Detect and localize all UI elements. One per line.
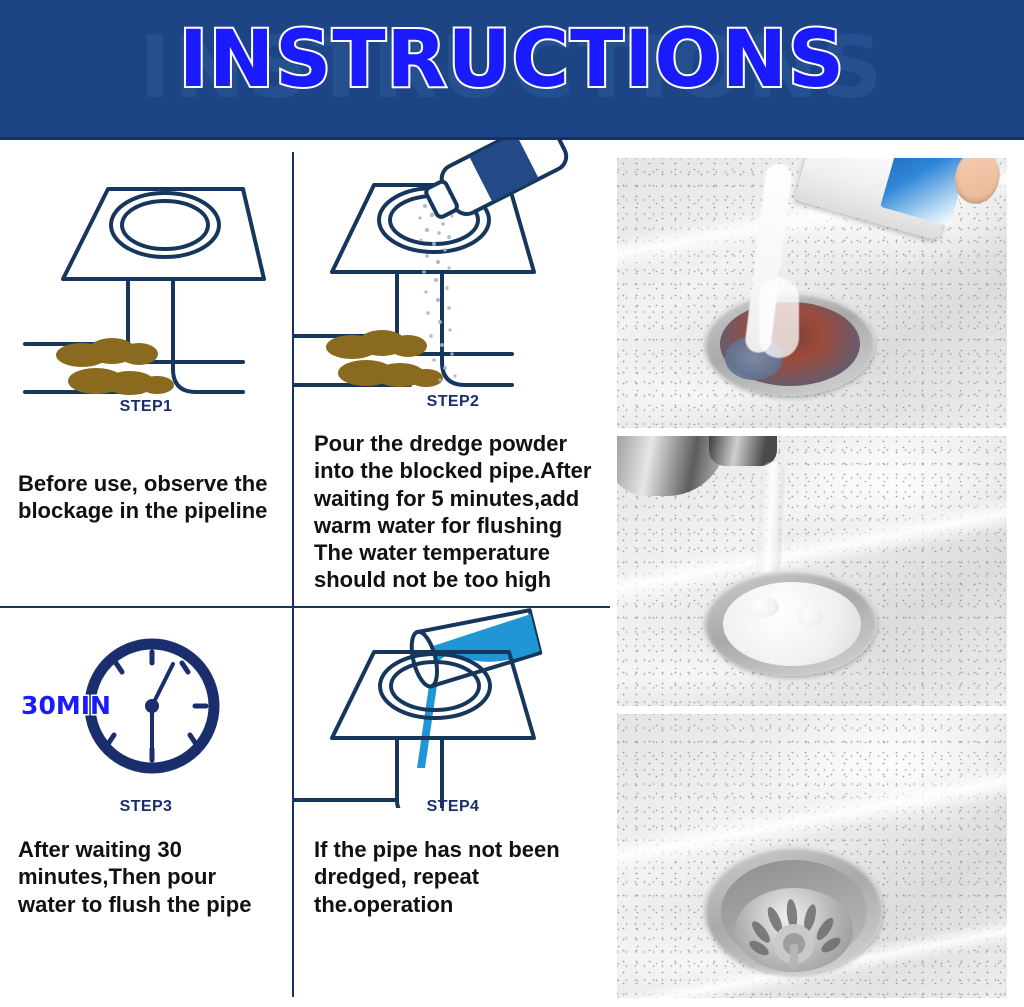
- step-2-caption-line-4: warm water for flushing: [314, 512, 610, 539]
- strainer-slots: [735, 888, 853, 972]
- step-2-caption-line-5: The water temperature: [314, 539, 610, 566]
- photo-flushing-water: [617, 436, 1007, 706]
- step-1-illustration: [0, 140, 292, 395]
- page-title: INSTRUCTIONS: [179, 15, 845, 105]
- step-1-label: STEP1: [0, 398, 292, 416]
- step-3-caption-line-2: minutes,Then pour: [18, 863, 290, 890]
- blockage-sludge: [56, 338, 174, 395]
- step-2-label: STEP2: [294, 393, 612, 411]
- foam-bubble-1: [745, 596, 779, 618]
- timer-text: 30MIN: [21, 691, 111, 720]
- diagram-grid: STEP1 Before use, observe the blockage i…: [0, 140, 612, 1007]
- step-3-illustration: 30MIN: [0, 608, 292, 798]
- instructions-body: STEP1 Before use, observe the blockage i…: [0, 140, 1024, 1007]
- sink-drain-blocked-pipe-icon: [0, 140, 292, 395]
- foam-bubble-2: [797, 608, 823, 626]
- powder-stream-spread: [759, 278, 799, 358]
- step-2-cell: STEP2 Pour the dredge powder into the bl…: [294, 140, 612, 606]
- step-2-caption-line-3: waiting for 5 minutes,add: [314, 485, 610, 512]
- photo-clear-drain: [617, 714, 1007, 998]
- step-1-caption-line-1: Before use, observe the: [18, 470, 286, 497]
- step-3-caption: After waiting 30 minutes,Then pour water…: [18, 836, 290, 918]
- step-2-caption-line-2: into the blocked pipe.After: [314, 457, 610, 484]
- step-3-label: STEP3: [0, 798, 292, 816]
- drain-foam: [723, 582, 861, 666]
- step-1-cell: STEP1 Before use, observe the blockage i…: [0, 140, 292, 606]
- step-3-caption-line-3: water to flush the pipe: [18, 891, 290, 918]
- step-1-caption: Before use, observe the blockage in the …: [18, 470, 286, 525]
- step-4-caption-line-1: If the pipe has not been: [314, 836, 610, 863]
- step-2-caption-line-6: should not be too high: [314, 566, 610, 593]
- step-2-illustration: [294, 140, 612, 390]
- clock-icon: 30MIN: [0, 608, 292, 798]
- powder-bottle-pouring-icon: [294, 140, 612, 390]
- step-4-caption-line-2: dredged, repeat: [314, 863, 610, 890]
- step-1-caption-line-2: blockage in the pipeline: [18, 497, 286, 524]
- faucet-spout: [709, 436, 777, 466]
- step-3-caption-line-1: After waiting 30: [18, 836, 290, 863]
- step-4-caption: If the pipe has not been dredged, repeat…: [314, 836, 610, 918]
- cup-pouring-water-icon: [294, 608, 612, 808]
- page-header: INSTRUCTIONS INSTRUCTIONS: [0, 0, 1024, 137]
- step-2-caption: Pour the dredge powder into the blocked …: [314, 430, 610, 594]
- step-4-illustration: [294, 608, 612, 808]
- dredge-powder-bottle: [420, 140, 571, 227]
- step-4-label: STEP4: [294, 798, 612, 816]
- photo-column: [617, 158, 1007, 998]
- photo-pouring-powder: [617, 158, 1007, 428]
- step-4-cell: STEP4 If the pipe has not been dredged, …: [294, 608, 612, 1007]
- step-4-caption-line-3: the.operation: [314, 891, 610, 918]
- step-2-caption-line-1: Pour the dredge powder: [314, 430, 610, 457]
- step-3-cell: 30MIN STEP3 After waiting 30 minutes,The…: [0, 608, 292, 1007]
